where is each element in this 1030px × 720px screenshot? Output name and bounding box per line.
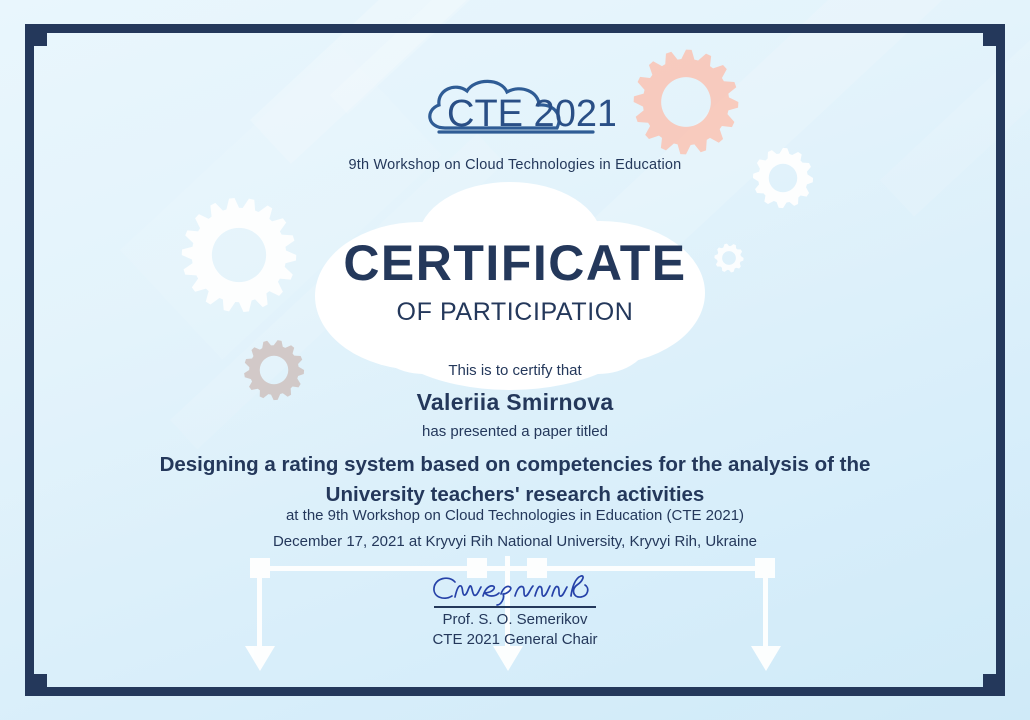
handwritten-signature-icon	[425, 572, 605, 606]
certificate-subheading: OF PARTICIPATION	[0, 298, 1030, 327]
signature-block: Prof. S. O. Semerikov CTE 2021 General C…	[385, 572, 645, 649]
presented-line: has presented a paper titled	[0, 423, 1030, 440]
paper-title: Designing a rating system based on compe…	[110, 450, 920, 509]
logo-text: CTE 2021	[447, 93, 615, 135]
workshop-subtitle: 9th Workshop on Cloud Technologies in Ed…	[0, 157, 1030, 173]
cloud-outline-icon: CTE 2021	[415, 76, 615, 144]
recipient-name: Valeriia Smirnova	[0, 389, 1030, 416]
cte-2021-cloud-logo: CTE 2021	[415, 76, 615, 144]
certificate-page: CTE 2021 9th Workshop on Cloud Technolog…	[0, 0, 1030, 720]
venue-line: December 17, 2021 at Kryvyi Rih National…	[0, 533, 1030, 550]
event-line: at the 9th Workshop on Cloud Technologie…	[0, 507, 1030, 524]
signature-rule	[434, 606, 596, 608]
signatory-role: CTE 2021 General Chair	[385, 630, 645, 650]
signatory-name: Prof. S. O. Semerikov	[385, 610, 645, 630]
certificate-heading: CERTIFICATE	[0, 234, 1030, 292]
certificate-content: CTE 2021 9th Workshop on Cloud Technolog…	[0, 0, 1030, 720]
certify-line: This is to certify that	[0, 362, 1030, 379]
